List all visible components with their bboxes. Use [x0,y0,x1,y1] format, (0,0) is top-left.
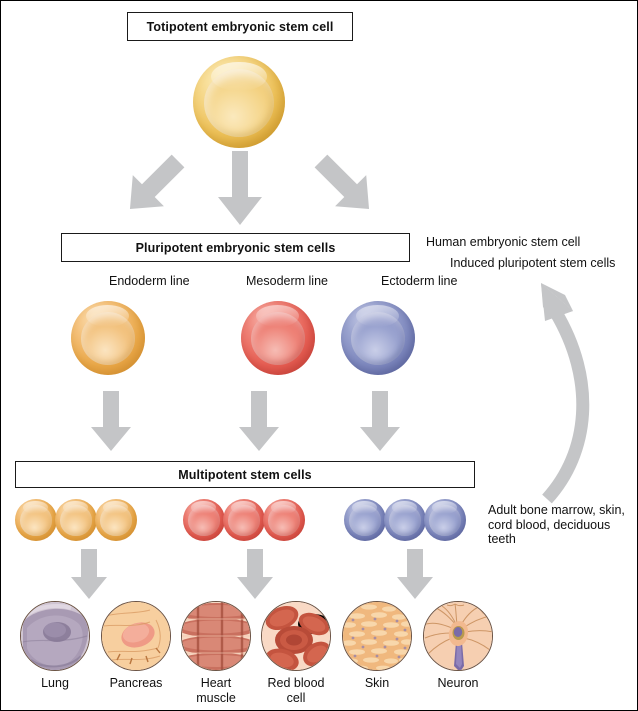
cell-gloss [432,501,456,514]
multipotent-cell-ectoderm-1 [344,499,386,541]
endoderm-stem-cell-sphere [71,301,145,375]
tissue-label-heart-muscle-line2: muscle [173,691,259,706]
title-box-multipotent: Multipotent stem cells [15,461,475,488]
arrow-multipotent-to-endoderm-tissues [69,549,109,601]
title-box-pluripotent-label: Pluripotent embryonic stem cells [136,241,336,255]
multipotent-cell-ectoderm-3 [424,499,466,541]
lineage-label-endoderm: Endoderm line [109,274,190,288]
tissue-label-neuron: Neuron [415,676,501,691]
multipotent-cell-endoderm-1 [15,499,57,541]
arrow-endoderm-to-multipotent [89,391,133,453]
tissue-label-lung-line1: Lung [12,676,98,691]
annotation-induced-pluripotent-stem-cells: Induced pluripotent stem cells [450,256,615,270]
tissue-neuron-image [423,601,493,671]
multipotent-cell-endoderm-2 [55,499,97,541]
tissue-label-red-blood-cell: Red blood cell [253,676,339,706]
tissue-label-pancreas: Pancreas [93,676,179,691]
arrow-ectoderm-to-multipotent [358,391,402,453]
diagram-frame: Totipotent embryonic stem cell Pluripote… [0,0,638,711]
annotation-adult-stem-cell-sources: Adult bone marrow, skin, cord blood, dec… [488,503,636,547]
cell-gloss [23,501,47,514]
arrow-mesoderm-to-multipotent [237,391,281,453]
title-box-totipotent-label: Totipotent embryonic stem cell [147,20,334,34]
totipotent-stem-cell-sphere [193,56,285,148]
tissue-label-heart-muscle: Heart muscle [173,676,259,706]
cell-gloss [63,501,87,514]
cell-gloss [256,305,299,327]
tissue-label-skin-line1: Skin [334,676,420,691]
tissue-label-red-blood-cell-line1: Red blood [253,676,339,691]
cell-gloss [356,305,399,327]
tissue-lung-image [20,601,90,671]
multipotent-cell-endoderm-3 [95,499,137,541]
multipotent-cell-ectoderm-2 [384,499,426,541]
tissue-label-lung: Lung [12,676,98,691]
tissue-skin-image [342,601,412,671]
cell-gloss [211,62,266,91]
tissue-label-neuron-line1: Neuron [415,676,501,691]
ectoderm-stem-cell-sphere [341,301,415,375]
arrow-to-ectoderm [305,149,385,221]
multipotent-cell-mesoderm-1 [183,499,225,541]
cell-gloss [271,501,295,514]
lineage-label-mesoderm: Mesoderm line [246,274,328,288]
cell-gloss [103,501,127,514]
multipotent-cell-mesoderm-3 [263,499,305,541]
title-box-totipotent: Totipotent embryonic stem cell [127,12,353,41]
arrow-multipotent-to-ectoderm-tissues [395,549,435,601]
cell-gloss [86,305,129,327]
tissue-label-heart-muscle-line1: Heart [173,676,259,691]
tissue-label-skin: Skin [334,676,420,691]
tissue-heart-muscle-image [181,601,251,671]
annotation-human-embryonic-stem-cell: Human embryonic stem cell [426,235,580,249]
tissue-label-pancreas-line1: Pancreas [93,676,179,691]
cell-gloss [352,501,376,514]
title-box-multipotent-label: Multipotent stem cells [178,468,311,482]
tissue-pancreas-image [101,601,171,671]
tissue-red-blood-cell-image [261,601,331,671]
title-box-pluripotent: Pluripotent embryonic stem cells [61,233,410,262]
cell-gloss [392,501,416,514]
tissue-label-red-blood-cell-line2: cell [253,691,339,706]
lineage-label-ectoderm: Ectoderm line [381,274,457,288]
arrow-to-mesoderm [214,151,266,227]
cell-gloss [231,501,255,514]
multipotent-cell-mesoderm-2 [223,499,265,541]
arrow-to-endoderm [114,149,194,221]
arrow-multipotent-to-mesoderm-tissues [235,549,275,601]
mesoderm-stem-cell-sphere [241,301,315,375]
reprogramming-curved-arrow [493,277,613,503]
cell-gloss [191,501,215,514]
